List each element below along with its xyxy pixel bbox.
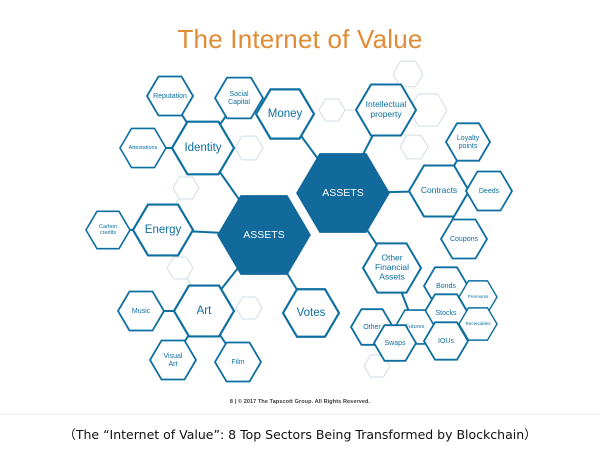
hex-node-coupons[interactable]: Coupons (441, 219, 487, 258)
hex-label: Money (268, 108, 303, 120)
hex-node-carbon-credits[interactable]: Carboncredits (86, 211, 130, 248)
ghost-hexagon (400, 135, 428, 159)
hexagon-layer: ASSETSASSETSReputationSocialCapitalAttes… (86, 76, 512, 381)
hex-node-other-financial-assets[interactable]: OtherFinancialAssets (363, 243, 421, 292)
slide-canvas: The Internet of Value ASSETSASSETSReputa… (0, 0, 600, 415)
hex-label: Identity (184, 142, 221, 154)
hex-node-contracts[interactable]: Contracts (409, 166, 469, 217)
hex-node-assets[interactable]: ASSETS (297, 154, 389, 232)
ghost-hexagon (167, 257, 193, 279)
ghost-hexagon (319, 99, 345, 121)
hex-label: Stocks (435, 310, 457, 317)
hex-label: Deeds (479, 188, 500, 195)
hex-label: IOUs (438, 338, 454, 345)
hex-node-intellectual-property[interactable]: Intellectualproperty (356, 85, 416, 136)
internet-of-value-hex-diagram: ASSETSASSETSReputationSocialCapitalAttes… (0, 52, 600, 392)
hex-node-loyalty-points[interactable]: Loyaltypoints (446, 123, 490, 160)
ghost-hexagon (236, 297, 262, 319)
hex-node-reputation[interactable]: Reputation (147, 76, 193, 115)
hex-label: Reputation (153, 93, 187, 100)
hex-node-music[interactable]: Music (118, 291, 164, 330)
hex-node-votes[interactable]: Votes (283, 289, 339, 337)
hex-label: Loyaltypoints (457, 135, 480, 150)
hex-label: Music (132, 308, 151, 315)
hex-label: Receivables (465, 321, 491, 326)
hex-label: ASSETS (322, 187, 363, 199)
hex-label: SocialCapital (228, 91, 250, 106)
ghost-hexagon (173, 177, 199, 199)
hex-label: Coupons (450, 236, 479, 243)
hex-node-visual-art[interactable]: VisualArt (150, 340, 196, 379)
hex-node-attestations[interactable]: Attestations (120, 128, 166, 167)
hex-node-assets[interactable]: ASSETS (218, 196, 310, 274)
figure-caption: （The “Internet of Value”: 8 Top Sectors … (0, 424, 600, 443)
hex-label: Attestations (129, 145, 158, 151)
ghost-hexagon (393, 61, 423, 86)
copyright-footer: 8 | © 2017 The Tapscott Group. All Right… (0, 399, 600, 405)
hex-label: Votes (297, 307, 326, 319)
hex-label: Art (197, 305, 213, 317)
hex-label: Energy (145, 224, 182, 236)
hex-node-money[interactable]: Money (256, 89, 314, 138)
hex-label: Carboncredits (99, 224, 117, 236)
hex-label: Contracts (421, 185, 457, 195)
hex-label: Premiums (468, 294, 489, 299)
hex-node-film[interactable]: Film (215, 342, 261, 381)
hex-node-identity[interactable]: Identity (172, 122, 234, 175)
hex-node-art[interactable]: Art (174, 286, 234, 337)
hex-label: ASSETS (243, 229, 284, 241)
ghost-hexagon (235, 136, 263, 160)
hex-label: Swaps (384, 340, 406, 347)
hex-node-energy[interactable]: Energy (133, 205, 193, 256)
hex-label: Intellectualproperty (366, 99, 407, 119)
page-title: The Internet of Value (0, 24, 600, 55)
hex-label: Other (363, 324, 381, 331)
hex-node-deeds[interactable]: Deeds (466, 171, 512, 210)
hex-label: Film (231, 359, 244, 366)
hex-label: Bonds (436, 283, 456, 290)
